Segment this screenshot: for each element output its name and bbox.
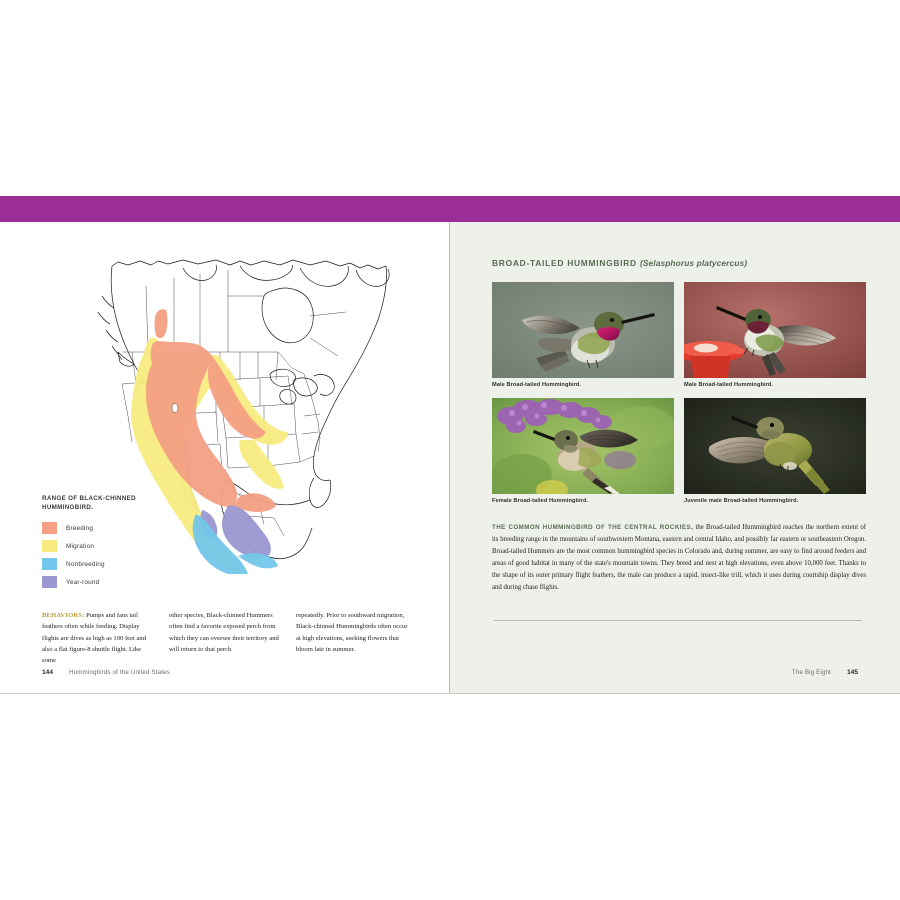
- photo-cell-male-flight: Male Broad-tailed Hummingbird.: [492, 282, 674, 393]
- map-legend: RANGE OF BLACK-CHINNED HUMMINGBIRD. Bree…: [42, 494, 182, 592]
- legend-item-year-round: Year-round: [42, 574, 182, 591]
- running-head-left: Hummingbirds of the United States: [69, 669, 170, 676]
- legend-label-breeding: Breeding: [66, 525, 93, 532]
- legend-title-line-1: RANGE OF BLACK-CHINNED: [42, 494, 182, 503]
- photo-cell-female: Female Broad-tailed Hummingbird.: [492, 398, 674, 509]
- page-title: BROAD-TAILED HUMMINGBIRD (Selasphorus pl…: [492, 258, 747, 268]
- page-title-common-name: BROAD-TAILED HUMMINGBIRD: [492, 258, 637, 268]
- page-title-scientific-name: (Selasphorus platycercus): [640, 258, 747, 268]
- behaviors-column-1-text: Pumps and fans tail feathers often while…: [42, 612, 146, 664]
- photo-grid: Male Broad-tailed Hummingbird.: [492, 282, 866, 514]
- behaviors-column-1: BEHAVIORS: Pumps and fans tail feathers …: [42, 610, 156, 667]
- legend-title-line-2: HUMMINGBIRD.: [42, 503, 182, 512]
- page-number-right: 145: [847, 669, 858, 676]
- photo-caption-juvenile: Juvenile male Broad-tailed Hummingbird.: [684, 494, 866, 509]
- photo-caption-male-feeder: Male Broad-tailed Hummingbird.: [684, 378, 866, 393]
- section-divider: [494, 620, 862, 621]
- description-lead: THE COMMON HUMMINGBIRD OF THE CENTRAL RO…: [492, 524, 693, 531]
- legend-swatch-nonbreeding: [42, 558, 57, 570]
- species-description: THE COMMON HUMMINGBIRD OF THE CENTRAL RO…: [492, 522, 866, 595]
- behaviors-heading: BEHAVIORS:: [42, 612, 84, 619]
- legend-label-nonbreeding: Nonbreeding: [66, 561, 105, 568]
- footer-right: The Big Eight 145: [792, 669, 858, 676]
- legend-item-breeding: Breeding: [42, 520, 182, 537]
- book-spread-screenshot: RANGE OF BLACK-CHINNED HUMMINGBIRD. Bree…: [0, 0, 900, 900]
- accent-bar: [0, 196, 900, 222]
- photo-juvenile-male-broad-tailed-hummingbird[interactable]: [684, 398, 866, 494]
- footer-left: 144 Hummingbirds of the United States: [42, 669, 170, 676]
- page-right: BROAD-TAILED HUMMINGBIRD (Selasphorus pl…: [450, 222, 900, 694]
- behaviors-text-block: BEHAVIORS: Pumps and fans tail feathers …: [42, 610, 410, 667]
- legend-item-migration: Migration: [42, 538, 182, 555]
- running-head-right: The Big Eight: [792, 669, 831, 676]
- photo-row-1: Male Broad-tailed Hummingbird.: [492, 282, 866, 393]
- book-spread: RANGE OF BLACK-CHINNED HUMMINGBIRD. Bree…: [0, 196, 900, 694]
- behaviors-column-3: repeatedly. Prior to southward migration…: [296, 610, 410, 667]
- legend-label-migration: Migration: [66, 543, 94, 550]
- legend-swatch-migration: [42, 540, 57, 552]
- page-left: RANGE OF BLACK-CHINNED HUMMINGBIRD. Bree…: [0, 222, 450, 694]
- page-number-left: 144: [42, 669, 53, 676]
- photo-male-broad-tailed-hummingbird-flight[interactable]: [492, 282, 674, 378]
- photo-cell-male-feeder: Male Broad-tailed Hummingbird.: [684, 282, 866, 393]
- photo-female-broad-tailed-hummingbird-flowers[interactable]: [492, 398, 674, 494]
- photo-caption-female: Female Broad-tailed Hummingbird.: [492, 494, 674, 509]
- legend-title: RANGE OF BLACK-CHINNED HUMMINGBIRD.: [42, 494, 182, 513]
- legend-swatch-breeding: [42, 522, 57, 534]
- photo-cell-juvenile: Juvenile male Broad-tailed Hummingbird.: [684, 398, 866, 509]
- legend-label-year-round: Year-round: [66, 579, 99, 586]
- description-text: the Broad-tailed Hummingbird reaches the…: [492, 524, 866, 591]
- legend-swatch-year-round: [42, 576, 57, 588]
- legend-item-nonbreeding: Nonbreeding: [42, 556, 182, 573]
- photo-row-2: Female Broad-tailed Hummingbird.: [492, 398, 866, 509]
- pages-container: RANGE OF BLACK-CHINNED HUMMINGBIRD. Bree…: [0, 222, 900, 694]
- photo-caption-male-flight: Male Broad-tailed Hummingbird.: [492, 378, 674, 393]
- photo-male-broad-tailed-hummingbird-feeder[interactable]: [684, 282, 866, 378]
- spread-bottom-edge: [0, 693, 900, 694]
- behaviors-column-2: other species, Black-chinned Hummers oft…: [169, 610, 283, 667]
